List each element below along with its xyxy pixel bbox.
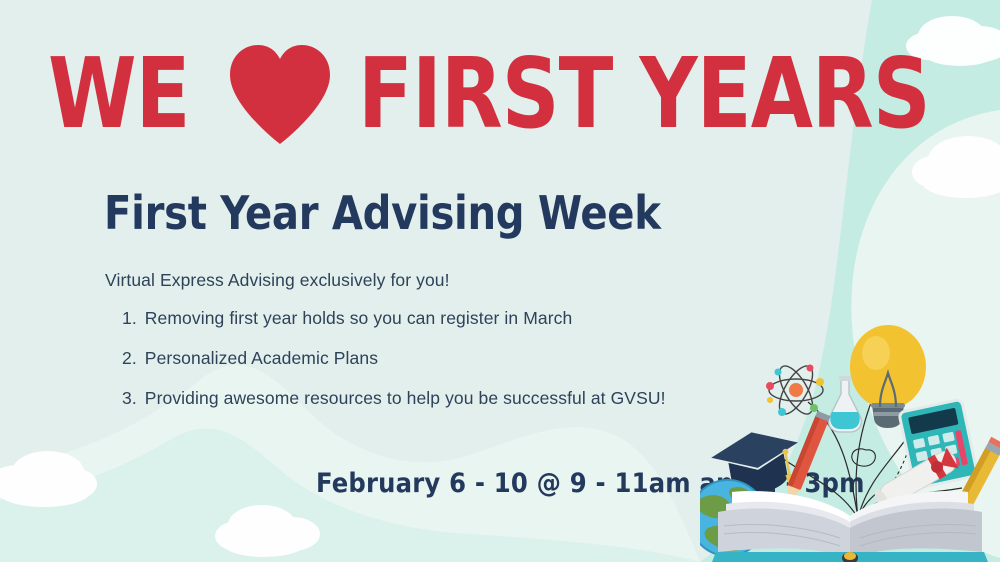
list-item-label: Providing awesome resources to help you … [145, 388, 666, 409]
headline-word-before: WE [48, 47, 190, 140]
cloud-bottom-left [0, 451, 97, 507]
poster-canvas: WE FIRST YEARS First Year Advising Week … [0, 0, 1000, 562]
list-item: 3. Providing awesome resources to help y… [122, 388, 666, 409]
page-title: First Year Advising Week [104, 188, 661, 239]
open-book-icon [712, 491, 988, 562]
heart-icon [226, 42, 334, 146]
open-book-with-education-icons-illustration [700, 318, 1000, 562]
list-item-label: Removing first year holds so you can reg… [145, 308, 573, 329]
list-item-number: 2. [122, 348, 137, 369]
list-item-label: Personalized Academic Plans [145, 348, 378, 369]
list-item: 1. Removing first year holds so you can … [122, 308, 666, 329]
list-item: 2. Personalized Academic Plans [122, 348, 666, 369]
list-item-number: 3. [122, 388, 137, 409]
headline: WE FIRST YEARS [48, 44, 908, 144]
lede-text: Virtual Express Advising exclusively for… [105, 270, 450, 291]
atom-icon [766, 361, 824, 419]
red-pencil-icon [782, 411, 831, 505]
list-item-number: 1. [122, 308, 137, 329]
headline-word-after: FIRST YEARS [358, 47, 930, 140]
cloud-bottom-center [215, 505, 320, 557]
benefits-list: 1. Removing first year holds so you can … [122, 308, 666, 428]
